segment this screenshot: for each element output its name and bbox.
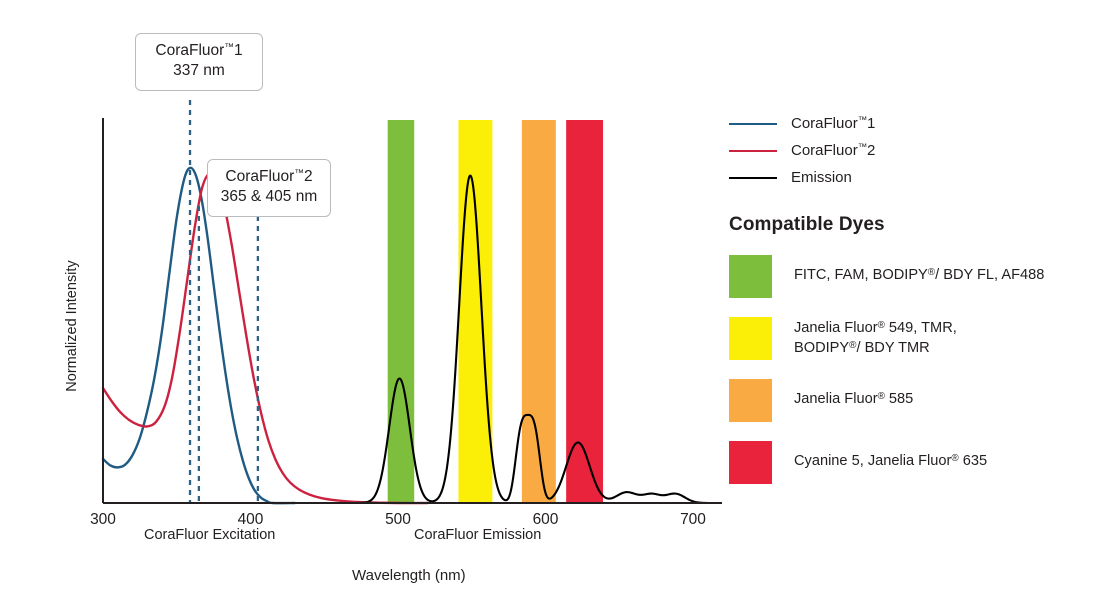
excitation-group-label: CoraFluor Excitation [144,527,275,543]
legend-series-row: CoraFluor™2 [729,137,1104,164]
emission-group-label: CoraFluor Emission [414,527,541,543]
y-axis-label: Normalized Intensity [64,231,80,421]
dye-row: Janelia Fluor® 549, TMR, BODIPY®/ BDY TM… [729,317,1104,360]
dye-color-swatch [729,441,772,484]
legend-series-label: CoraFluor™1 [791,115,875,132]
legend-series-row: CoraFluor™1 [729,110,1104,137]
emission-band-red [566,120,603,503]
callout-1-line2: 337 nm [148,61,250,81]
dye-color-swatch [729,317,772,360]
legend-series-label: CoraFluor™2 [791,142,875,159]
dye-color-swatch [729,379,772,422]
legend-panel: CoraFluor™1CoraFluor™2Emission Compatibl… [729,110,1104,484]
spectra-figure: 300400500600700 CoraFluor™1 337 nm CoraF… [0,0,1110,612]
series-legend: CoraFluor™1CoraFluor™2Emission [729,110,1104,191]
dye-label: Janelia Fluor® 585 [794,379,913,410]
callout-1-line1: CoraFluor™1 [148,41,250,61]
legend-line-swatch [729,177,777,179]
legend-series-row: Emission [729,164,1104,191]
dye-label: FITC, FAM, BODIPY®/ BDY FL, AF488 [794,255,1044,286]
dye-label: Cyanine 5, Janelia Fluor® 635 [794,441,987,472]
x-tick-label-400: 400 [238,511,264,528]
x-tick-label-300: 300 [90,511,116,528]
callout-2-line1: CoraFluor™2 [220,167,318,187]
dye-label: Janelia Fluor® 549, TMR, BODIPY®/ BDY TM… [794,317,957,358]
callout-corafluor-2: CoraFluor™2 365 & 405 nm [207,159,331,217]
legend-line-swatch [729,150,777,152]
dye-row: FITC, FAM, BODIPY®/ BDY FL, AF488 [729,255,1104,298]
x-tick-label-600: 600 [533,511,559,528]
x-tick-label-700: 700 [680,511,706,528]
dye-row: Janelia Fluor® 585 [729,379,1104,422]
compatible-dyes-list: FITC, FAM, BODIPY®/ BDY FL, AF488Janelia… [729,255,1104,484]
dye-row: Cyanine 5, Janelia Fluor® 635 [729,441,1104,484]
emission-band-green [388,120,415,503]
legend-series-label: Emission [791,169,852,186]
emission-band-yellow [458,120,492,503]
callout-2-line2: 365 & 405 nm [220,187,318,207]
x-tick-label-500: 500 [385,511,411,528]
dye-color-swatch [729,255,772,298]
excitation-curve-2 [103,173,428,503]
compatible-dyes-title: Compatible Dyes [729,214,1104,236]
callout-corafluor-1: CoraFluor™1 337 nm [135,33,263,91]
legend-line-swatch [729,123,777,125]
x-axis-label: Wavelength (nm) [352,567,466,584]
